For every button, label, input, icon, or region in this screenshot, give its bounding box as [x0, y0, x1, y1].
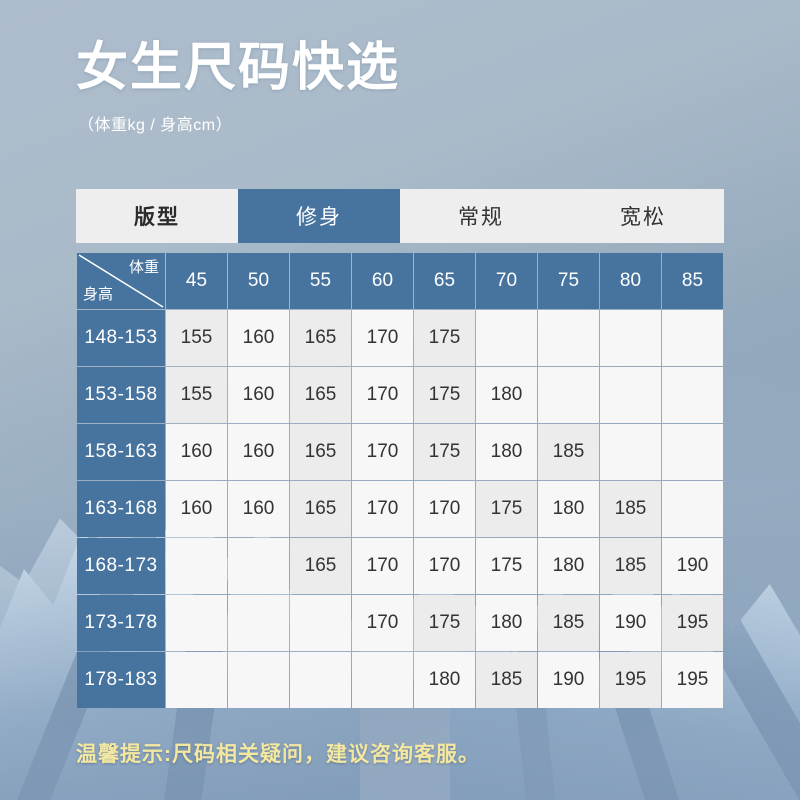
- tab-loose-fit[interactable]: 宽松: [562, 189, 724, 243]
- size-cell-r2c1: 160: [228, 424, 289, 480]
- size-cell-r5c7: 190: [600, 595, 661, 651]
- height-header-row-0: 148-153: [77, 310, 165, 366]
- size-cell-r4c2: 165: [290, 538, 351, 594]
- size-cell-r2c3: 170: [352, 424, 413, 480]
- size-cell-r5c0: [166, 595, 227, 651]
- table-row: 168-173 165 170 170 175 180 185 190: [77, 538, 723, 594]
- size-cell-r2c6: 185: [538, 424, 599, 480]
- size-cell-r4c8: 190: [662, 538, 723, 594]
- size-cell-r3c8: [662, 481, 723, 537]
- size-cell-r1c4: 175: [414, 367, 475, 423]
- size-cell-r0c2: 165: [290, 310, 351, 366]
- size-cell-r0c5: [476, 310, 537, 366]
- size-cell-r6c5: 185: [476, 652, 537, 708]
- table-row: 158-163 160 160 165 170 175 180 185: [77, 424, 723, 480]
- size-cell-r6c0: [166, 652, 227, 708]
- size-cell-r1c6: [538, 367, 599, 423]
- size-table-head: 体重 身高 45 50 55 60 65 70 75 80 85: [77, 253, 723, 309]
- size-cell-r1c0: 155: [166, 367, 227, 423]
- size-cell-r6c1: [228, 652, 289, 708]
- size-cell-r4c6: 180: [538, 538, 599, 594]
- size-cell-r2c4: 175: [414, 424, 475, 480]
- size-cell-r4c7: 185: [600, 538, 661, 594]
- size-cell-r6c2: [290, 652, 351, 708]
- height-header-row-5: 173-178: [77, 595, 165, 651]
- weight-header-55: 55: [290, 253, 351, 309]
- size-cell-r1c8: [662, 367, 723, 423]
- size-cell-r4c0: [166, 538, 227, 594]
- size-cell-r4c5: 175: [476, 538, 537, 594]
- size-cell-r6c3: [352, 652, 413, 708]
- weight-header-70: 70: [476, 253, 537, 309]
- weight-header-65: 65: [414, 253, 475, 309]
- size-cell-r4c1: [228, 538, 289, 594]
- weight-header-45: 45: [166, 253, 227, 309]
- size-cell-r3c5: 175: [476, 481, 537, 537]
- tab-slim-fit[interactable]: 修身: [238, 189, 400, 243]
- footer-note: 温馨提示:尺码相关疑问，建议咨询客服。: [76, 738, 480, 768]
- size-cell-r2c2: 165: [290, 424, 351, 480]
- size-cell-r2c0: 160: [166, 424, 227, 480]
- size-cell-r5c5: 180: [476, 595, 537, 651]
- size-cell-r3c2: 165: [290, 481, 351, 537]
- height-header-row-2: 158-163: [77, 424, 165, 480]
- tab-regular-fit[interactable]: 常规: [400, 189, 562, 243]
- size-table-header-row: 体重 身高 45 50 55 60 65 70 75 80 85: [77, 253, 723, 309]
- table-row: 148-153 155 160 165 170 175: [77, 310, 723, 366]
- size-cell-r2c7: [600, 424, 661, 480]
- size-cell-r5c2: [290, 595, 351, 651]
- size-cell-r3c7: 185: [600, 481, 661, 537]
- corner-height-label: 身高: [83, 287, 113, 302]
- tabbar-row-label: 版型: [76, 189, 238, 243]
- size-cell-r5c8: 195: [662, 595, 723, 651]
- size-cell-r0c8: [662, 310, 723, 366]
- size-cell-r5c6: 185: [538, 595, 599, 651]
- header: 女生尺码快选 （体重kg / 身高cm）: [76, 40, 400, 135]
- size-cell-r0c7: [600, 310, 661, 366]
- size-cell-r6c8: 195: [662, 652, 723, 708]
- size-cell-r6c7: 195: [600, 652, 661, 708]
- size-cell-r0c0: 155: [166, 310, 227, 366]
- size-cell-r0c3: 170: [352, 310, 413, 366]
- size-cell-r5c1: [228, 595, 289, 651]
- weight-header-50: 50: [228, 253, 289, 309]
- size-cell-r1c3: 170: [352, 367, 413, 423]
- size-chart-page: 女生尺码快选 （体重kg / 身高cm） 版型 修身 常规 宽松 体重 身高 4…: [0, 0, 800, 800]
- corner-weight-label: 体重: [129, 260, 159, 275]
- weight-header-75: 75: [538, 253, 599, 309]
- table-row: 153-158 155 160 165 170 175 180: [77, 367, 723, 423]
- size-cell-r1c7: [600, 367, 661, 423]
- size-cell-r0c6: [538, 310, 599, 366]
- size-cell-r6c6: 190: [538, 652, 599, 708]
- table-row: 173-178 170 175 180 185 190 195: [77, 595, 723, 651]
- size-cell-r3c4: 170: [414, 481, 475, 537]
- size-cell-r3c6: 180: [538, 481, 599, 537]
- table-row: 163-168 160 160 165 170 170 175 180 185: [77, 481, 723, 537]
- height-header-row-6: 178-183: [77, 652, 165, 708]
- height-header-row-4: 168-173: [77, 538, 165, 594]
- size-cell-r2c5: 180: [476, 424, 537, 480]
- height-header-row-1: 153-158: [77, 367, 165, 423]
- size-cell-r3c0: 160: [166, 481, 227, 537]
- table-row: 178-183 180 185 190 195 195: [77, 652, 723, 708]
- page-title: 女生尺码快选: [76, 40, 400, 97]
- size-cell-r6c4: 180: [414, 652, 475, 708]
- size-cell-r0c1: 160: [228, 310, 289, 366]
- weight-header-80: 80: [600, 253, 661, 309]
- corner-header-cell: 体重 身高: [77, 253, 165, 309]
- size-cell-r0c4: 175: [414, 310, 475, 366]
- size-cell-r2c8: [662, 424, 723, 480]
- size-cell-r4c4: 170: [414, 538, 475, 594]
- page-subtitle: （体重kg / 身高cm）: [78, 111, 400, 135]
- size-table: 体重 身高 45 50 55 60 65 70 75 80 85 148-153…: [76, 252, 724, 709]
- size-cell-r1c1: 160: [228, 367, 289, 423]
- weight-header-60: 60: [352, 253, 413, 309]
- height-header-row-3: 163-168: [77, 481, 165, 537]
- fit-type-tabbar: 版型 修身 常规 宽松: [76, 189, 724, 243]
- size-cell-r5c3: 170: [352, 595, 413, 651]
- size-cell-r4c3: 170: [352, 538, 413, 594]
- weight-header-85: 85: [662, 253, 723, 309]
- size-table-body: 148-153 155 160 165 170 175 153-158 155 …: [77, 310, 723, 708]
- size-cell-r3c3: 170: [352, 481, 413, 537]
- size-cell-r1c5: 180: [476, 367, 537, 423]
- size-cell-r1c2: 165: [290, 367, 351, 423]
- size-cell-r3c1: 160: [228, 481, 289, 537]
- size-cell-r5c4: 175: [414, 595, 475, 651]
